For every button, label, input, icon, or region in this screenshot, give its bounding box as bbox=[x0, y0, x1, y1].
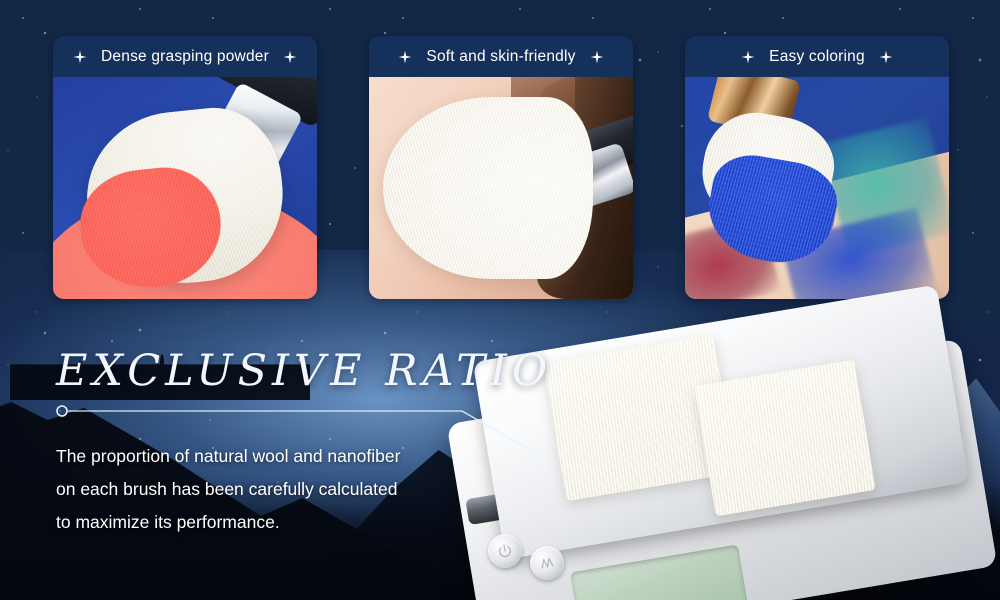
feature-card-row: Dense grasping powder Soft and skin- bbox=[53, 36, 949, 299]
power-icon bbox=[496, 542, 514, 560]
promo-banner: Dense grasping powder Soft and skin- bbox=[0, 0, 1000, 600]
card-title: Dense grasping powder bbox=[101, 48, 269, 66]
card-header: Soft and skin-friendly bbox=[369, 36, 633, 77]
page-title: EXCLUSIVE RATIO bbox=[56, 346, 552, 396]
feature-card-dense-grasping-powder[interactable]: Dense grasping powder bbox=[53, 36, 317, 299]
sparkle-icon bbox=[283, 50, 297, 64]
sparkle-icon bbox=[741, 50, 755, 64]
card-header: Dense grasping powder bbox=[53, 36, 317, 77]
paragraph-line: to maximize its performance. bbox=[56, 506, 476, 539]
card-title: Soft and skin-friendly bbox=[426, 48, 575, 66]
card-title: Easy coloring bbox=[769, 48, 865, 66]
card-image-soft-and-skin-friendly bbox=[369, 77, 633, 299]
paragraph-line: on each brush has been carefully calcula… bbox=[56, 473, 476, 506]
sparkle-icon bbox=[879, 50, 893, 64]
sparkle-icon bbox=[73, 50, 87, 64]
sparkle-icon bbox=[398, 50, 412, 64]
paragraph-line: The proportion of natural wool and nanof… bbox=[56, 440, 476, 473]
feature-card-easy-coloring[interactable]: Easy coloring bbox=[685, 36, 949, 299]
card-image-dense-grasping-powder bbox=[53, 77, 317, 299]
sparkle-icon bbox=[590, 50, 604, 64]
fiber-bundle-nanofiber bbox=[694, 360, 876, 517]
unit-icon bbox=[538, 554, 556, 572]
brush-bristles bbox=[383, 97, 593, 279]
card-image-easy-coloring bbox=[685, 77, 949, 299]
feature-card-soft-and-skin-friendly[interactable]: Soft and skin-friendly bbox=[369, 36, 633, 299]
description-paragraph: The proportion of natural wool and nanof… bbox=[56, 440, 476, 539]
card-header: Easy coloring bbox=[685, 36, 949, 77]
